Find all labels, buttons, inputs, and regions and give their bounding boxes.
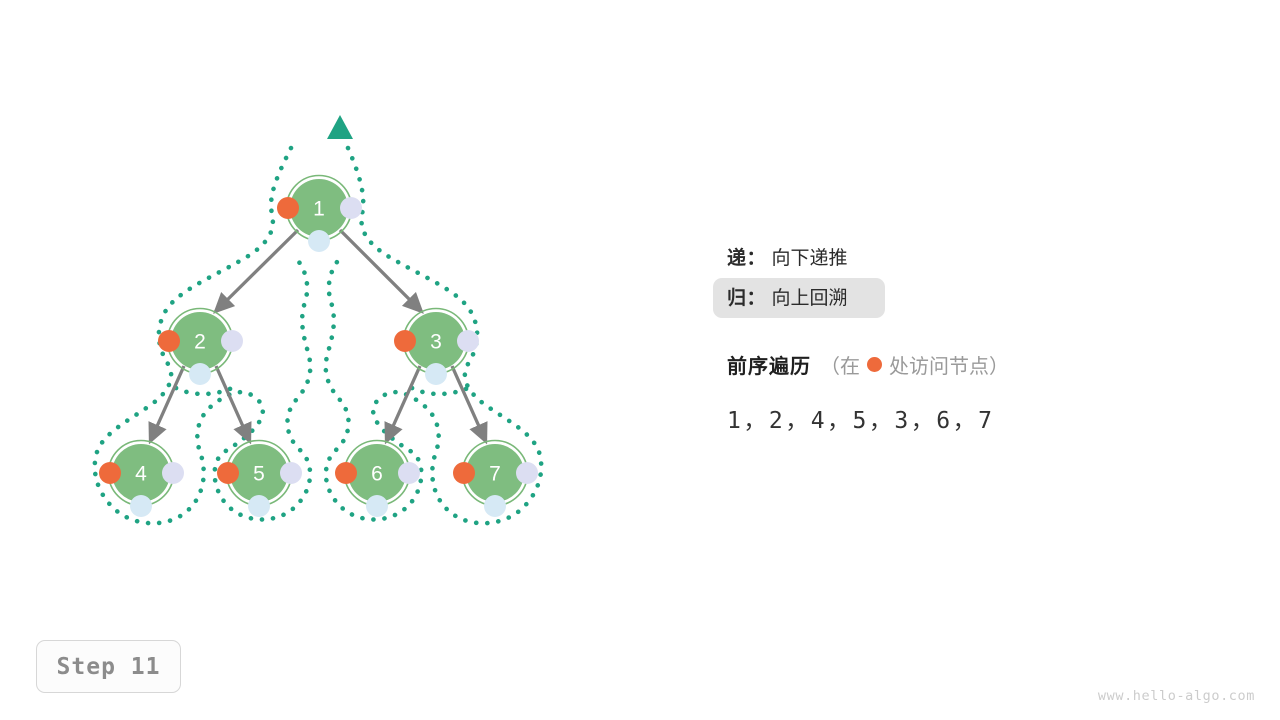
right-dot xyxy=(457,330,479,352)
node-label: 2 xyxy=(194,331,206,354)
bottom-dot xyxy=(484,495,506,517)
tree-node-5[interactable]: 5 xyxy=(217,441,302,518)
right-dot xyxy=(340,197,362,219)
traversal-title-text: 前序遍历 xyxy=(727,350,811,379)
tree-node-4[interactable]: 4 xyxy=(99,441,184,518)
bottom-dot xyxy=(366,495,388,517)
visit-dot xyxy=(217,462,239,484)
edge-2-5 xyxy=(216,366,250,442)
edge-1-2 xyxy=(215,230,298,312)
visit-dot-icon xyxy=(867,357,882,372)
right-dot xyxy=(221,330,243,352)
right-dot xyxy=(162,462,184,484)
path-under-node3 xyxy=(412,388,468,394)
edge-3-6 xyxy=(386,366,420,442)
node-label: 1 xyxy=(313,198,325,221)
node-label: 5 xyxy=(253,463,265,486)
path-under-node2 xyxy=(176,388,232,394)
bottom-dot xyxy=(189,363,211,385)
visit-dot xyxy=(99,462,121,484)
edge-1-3 xyxy=(340,230,422,312)
traversal-sequence: 1，2，4，5，3，6，7 xyxy=(727,401,1247,435)
legend-desc: 向上回溯 xyxy=(772,289,848,308)
traversal-note-right: 处访问节点） xyxy=(889,350,1009,379)
bottom-dot xyxy=(425,363,447,385)
right-dot xyxy=(280,462,302,484)
bottom-dot xyxy=(130,495,152,517)
tree-node-6[interactable]: 6 xyxy=(335,441,420,518)
traversal-note-left: （在 xyxy=(820,350,860,379)
legend-spacer xyxy=(727,318,1247,350)
legend-term: 递 xyxy=(727,249,747,268)
watermark: www.hello-algo.com xyxy=(1098,688,1255,704)
bottom-dot xyxy=(248,495,270,517)
right-dot xyxy=(516,462,538,484)
visit-dot xyxy=(453,462,475,484)
legend-colon: ： xyxy=(747,249,766,268)
cursor-triangle-up-icon xyxy=(327,115,353,139)
traversal-title: 前序遍历 （在 处访问节点） xyxy=(727,350,1247,379)
legend-panel: 递：向下递推 归：向上回溯 前序遍历 （在 处访问节点） 1，2，4，5，3，6… xyxy=(727,238,1247,435)
node-label: 4 xyxy=(135,463,147,486)
visit-dot xyxy=(394,330,416,352)
legend-row-recurse: 递：向下递推 xyxy=(727,238,1247,278)
legend-row-backtrack: 归：向上回溯 xyxy=(713,278,885,318)
visit-dot xyxy=(158,330,180,352)
right-dot xyxy=(398,462,420,484)
figure-canvas: 1 2 3 xyxy=(0,0,1280,720)
node-label: 6 xyxy=(371,463,383,486)
visit-dot xyxy=(277,197,299,219)
legend-term: 归 xyxy=(727,289,747,308)
bottom-dot xyxy=(308,230,330,252)
step-badge: Step 11 xyxy=(36,640,181,693)
node-label: 3 xyxy=(430,331,442,354)
tree-nodes: 1 2 3 xyxy=(99,176,538,518)
node-label: 7 xyxy=(489,463,501,486)
legend-desc: 向下递推 xyxy=(772,249,848,268)
legend-colon: ： xyxy=(747,289,766,308)
visit-dot xyxy=(335,462,357,484)
